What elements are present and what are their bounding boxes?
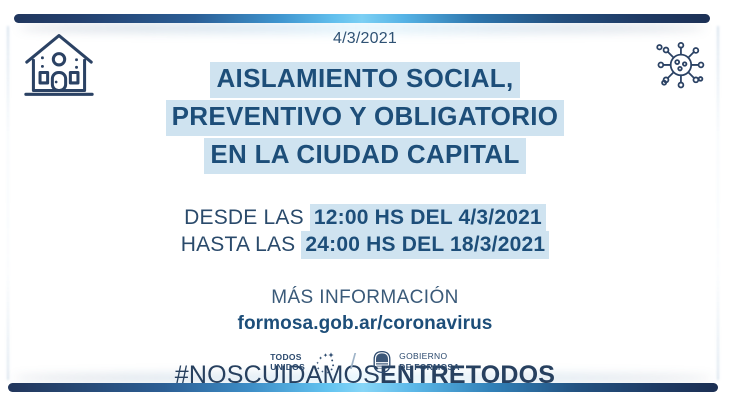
logo-divider: / xyxy=(348,351,358,373)
todos-unidos-line-1: TODOS xyxy=(270,352,305,362)
headline-line-2-wrap: PREVENTIVO Y OBLIGATORIO xyxy=(0,100,730,138)
todos-unidos-text: TODOS UNIDOS xyxy=(270,352,305,372)
poster-canvas: 4/3/2021 AISLAMIENTO SOCIAL, PREVENTIVO … xyxy=(0,0,730,406)
gobierno-text: GOBIERNO DE FORMOSA xyxy=(399,351,460,372)
schedule-start-prefix: DESDE LAS xyxy=(184,206,304,229)
schedule-end-value: 24:00 HS DEL 18/3/2021 xyxy=(301,231,549,259)
logo-gobierno-de-formosa: GOBIERNO DE FORMOSA xyxy=(371,350,460,374)
stars-arc-icon xyxy=(309,350,335,374)
headline-line-2: PREVENTIVO Y OBLIGATORIO xyxy=(166,100,565,136)
more-info-label: MÁS INFORMACIÓN xyxy=(0,287,730,309)
formosa-crest-icon xyxy=(371,350,393,374)
headline-line-1: AISLAMIENTO SOCIAL, xyxy=(210,62,519,98)
schedule-block: DESDE LAS 12:00 HS DEL 4/3/2021 HASTA LA… xyxy=(0,204,730,259)
schedule-end-prefix: HASTA LAS xyxy=(181,233,296,256)
headline-line-1-wrap: AISLAMIENTO SOCIAL, xyxy=(0,62,730,100)
more-info-block: MÁS INFORMACIÓN formosa.gob.ar/coronavir… xyxy=(0,287,730,335)
schedule-row-end: HASTA LAS 24:00 HS DEL 18/3/2021 xyxy=(0,231,730,258)
top-gradient-bar xyxy=(14,14,710,23)
gobierno-line-1: GOBIERNO xyxy=(399,351,460,362)
todos-unidos-line-2: UNIDOS xyxy=(270,362,305,372)
poster-content: 4/3/2021 AISLAMIENTO SOCIAL, PREVENTIVO … xyxy=(0,30,730,390)
gobierno-line-2: DE FORMOSA xyxy=(399,362,460,373)
logo-todos-unidos: TODOS UNIDOS xyxy=(270,350,335,374)
more-info-url[interactable]: formosa.gob.ar/coronavirus xyxy=(0,313,730,335)
poster-date: 4/3/2021 xyxy=(0,30,730,48)
headline-line-3-wrap: EN LA CIUDAD CAPITAL xyxy=(0,138,730,176)
schedule-row-start: DESDE LAS 12:00 HS DEL 4/3/2021 xyxy=(0,204,730,231)
footer-logos: TODOS UNIDOS / xyxy=(0,350,730,374)
schedule-start-value: 12:00 HS DEL 4/3/2021 xyxy=(310,204,546,232)
headline-line-3: EN LA CIUDAD CAPITAL xyxy=(204,138,525,174)
headline-block: AISLAMIENTO SOCIAL, PREVENTIVO Y OBLIGAT… xyxy=(0,62,730,176)
